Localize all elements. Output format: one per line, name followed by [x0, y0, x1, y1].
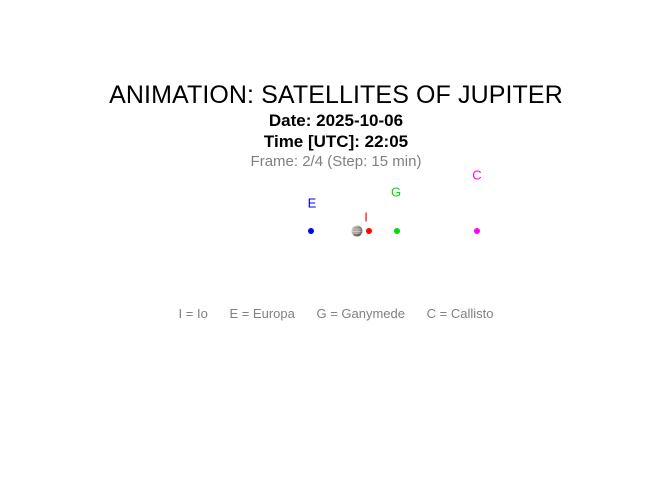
moon-label-europa: E	[308, 197, 317, 210]
legend-entry-io: I = Io	[179, 306, 208, 321]
legend-entry-ganymede: G = Ganymede	[316, 306, 405, 321]
moon-dot-io	[366, 228, 372, 234]
moon-label-ganymede: G	[391, 186, 401, 199]
animation-canvas: ANIMATION: SATELLITES OF JUPITER Date: 2…	[0, 0, 672, 480]
legend-entry-europa: E = Europa	[229, 306, 294, 321]
moon-dot-callisto	[474, 228, 480, 234]
jupiter-disk	[352, 226, 363, 237]
moon-label-io: I	[364, 211, 368, 224]
legend-entry-callisto: C = Callisto	[427, 306, 494, 321]
satellite-plot: C G E I	[0, 0, 672, 480]
moon-dot-europa	[308, 228, 314, 234]
legend: I = Io E = Europa G = Ganymede C = Calli…	[0, 306, 672, 322]
moon-label-callisto: C	[472, 169, 481, 182]
moon-dot-ganymede	[394, 228, 400, 234]
